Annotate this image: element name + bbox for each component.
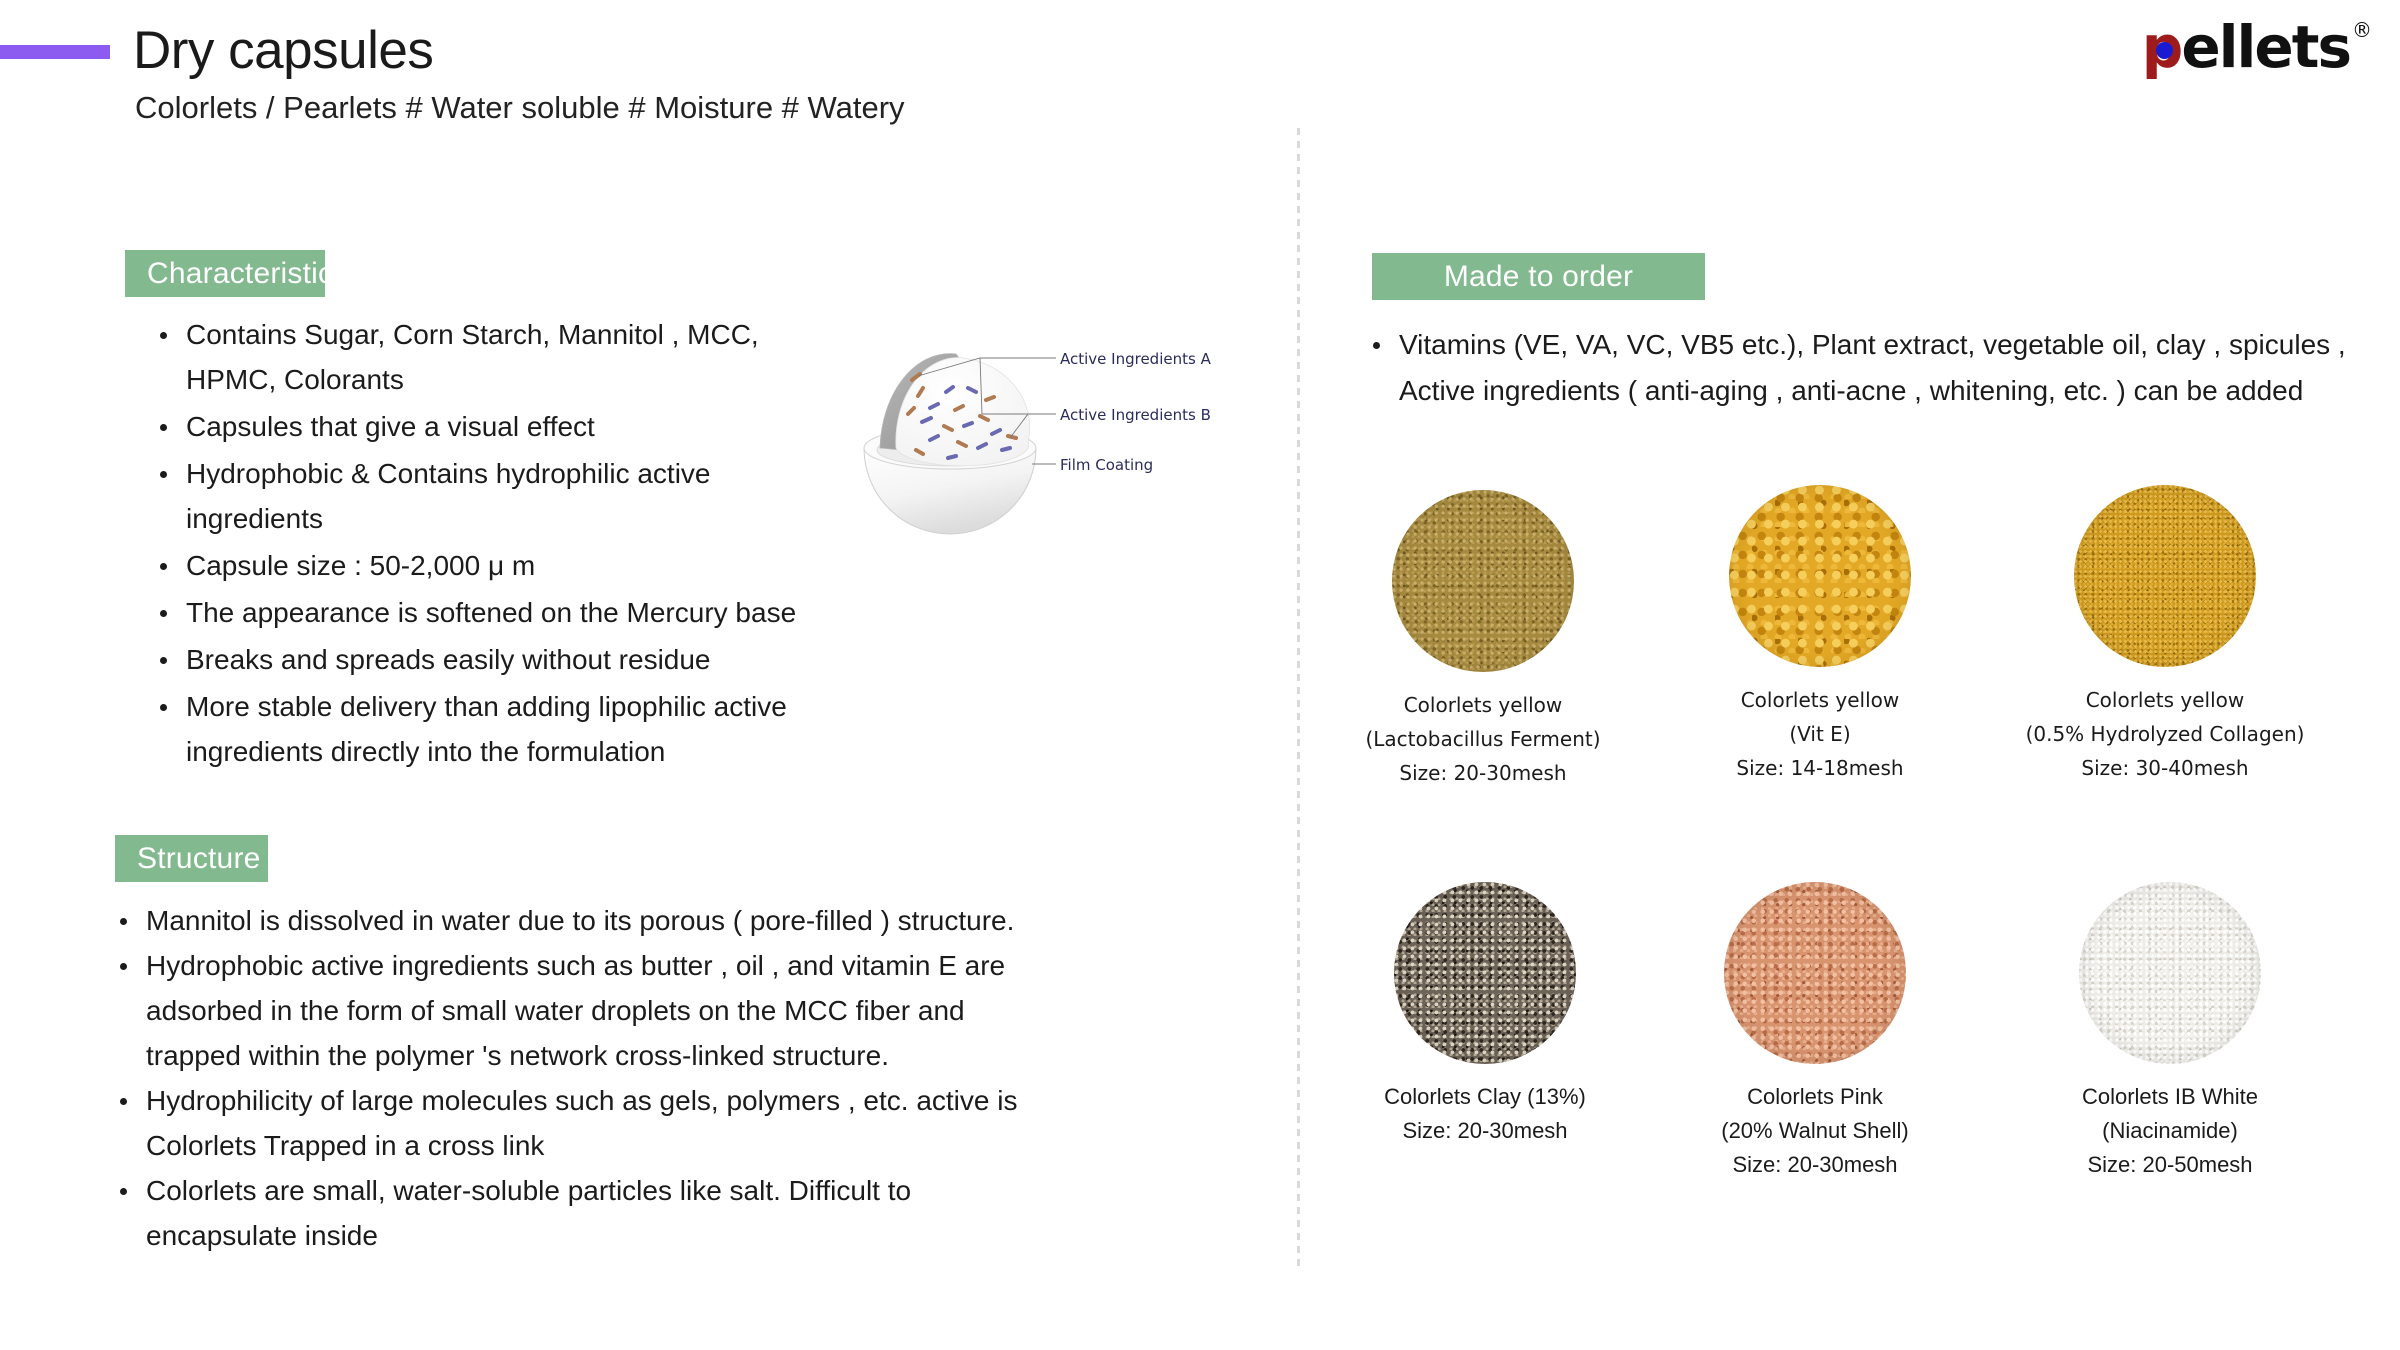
diagram-label-active-a: Active Ingredients A — [1060, 350, 1211, 368]
pellets-logo: pellets ® — [2142, 18, 2372, 80]
sample-card: Colorlets Clay (13%) Size: 20-30mesh — [1330, 882, 1640, 1148]
page-title: Dry capsules — [133, 20, 433, 81]
sample-image — [1724, 882, 1906, 1064]
sample-card: Colorlets IB White (Niacinamide) Size: 2… — [1925, 882, 2400, 1182]
sample-detail: (20% Walnut Shell) — [1660, 1114, 1970, 1148]
sample-name: Colorlets Pink — [1660, 1080, 1970, 1114]
characteristic-list: Contains Sugar, Corn Starch, Mannitol , … — [150, 312, 850, 776]
sample-name: Colorlets IB White — [1925, 1080, 2400, 1114]
column-divider — [1297, 128, 1300, 1268]
sample-image — [1394, 882, 1576, 1064]
sample-detail: (0.5% Hydrolyzed Collagen) — [1995, 717, 2335, 751]
sample-size: Size: 20-30mesh — [1330, 1114, 1640, 1148]
diagram-label-film-coating: Film Coating — [1060, 456, 1153, 474]
list-item: Colorlets are small, water-soluble parti… — [110, 1168, 1060, 1258]
badge-made-to-order: Made to order — [1372, 253, 1705, 300]
structure-list: Mannitol is dissolved in water due to it… — [110, 898, 1060, 1258]
sample-card: Colorlets yellow (Vit E) Size: 14-18mesh — [1665, 485, 1975, 785]
list-item: More stable delivery than adding lipophi… — [150, 684, 850, 774]
sample-size: Size: 14-18mesh — [1665, 751, 1975, 785]
badge-structure: Structure — [115, 835, 268, 882]
sample-size: Size: 20-30mesh — [1660, 1148, 1970, 1182]
sample-caption: Colorlets yellow (Vit E) Size: 14-18mesh — [1665, 683, 1975, 785]
page-subtitle: Colorlets / Pearlets # Water soluble # M… — [135, 90, 905, 126]
capsule-diagram: Active Ingredients A Active Ingredients … — [860, 330, 1240, 590]
list-item: Contains Sugar, Corn Starch, Mannitol , … — [150, 312, 850, 402]
sample-caption: Colorlets Clay (13%) Size: 20-30mesh — [1330, 1080, 1640, 1148]
sample-size: Size: 20-50mesh — [1925, 1148, 2400, 1182]
list-item: Mannitol is dissolved in water due to it… — [110, 898, 1060, 943]
slide-root: Dry capsules Colorlets / Pearlets # Wate… — [0, 0, 2400, 1350]
list-item: Hydrophobic & Contains hydrophilic activ… — [150, 451, 850, 541]
list-item: Breaks and spreads easily without residu… — [150, 637, 850, 682]
sample-image — [2074, 485, 2256, 667]
sample-detail: (Niacinamide) — [1925, 1114, 2400, 1148]
sample-size: Size: 20-30mesh — [1313, 756, 1653, 790]
sample-caption: Colorlets Pink (20% Walnut Shell) Size: … — [1660, 1080, 1970, 1182]
sample-name: Colorlets yellow — [1995, 683, 2335, 717]
sample-card: Colorlets yellow (0.5% Hydrolyzed Collag… — [1995, 485, 2335, 785]
list-item: Vitamins (VE, VA, VC, VB5 etc.), Plant e… — [1363, 322, 2353, 414]
diagram-label-active-b: Active Ingredients B — [1060, 406, 1211, 424]
sample-card: Colorlets yellow (Lactobacillus Ferment)… — [1313, 490, 1653, 790]
made-to-order-list: Vitamins (VE, VA, VC, VB5 etc.), Plant e… — [1363, 322, 2353, 414]
sample-size: Size: 30-40mesh — [1995, 751, 2335, 785]
badge-characteristic: Characteristic — [125, 250, 325, 297]
sample-name: Colorlets Clay (13%) — [1330, 1080, 1640, 1114]
registered-trademark-icon: ® — [2352, 20, 2372, 40]
sample-name: Colorlets yellow — [1313, 688, 1653, 722]
sample-caption: Colorlets IB White (Niacinamide) Size: 2… — [1925, 1080, 2400, 1182]
logo-wordmark: pellets — [2142, 18, 2350, 76]
logo-dot-icon — [2156, 42, 2173, 59]
sample-detail: (Lactobacillus Ferment) — [1313, 722, 1653, 756]
list-item: Capsules that give a visual effect — [150, 404, 850, 449]
sample-card: Colorlets Pink (20% Walnut Shell) Size: … — [1660, 882, 1970, 1182]
list-item: The appearance is softened on the Mercur… — [150, 590, 850, 635]
sample-image — [1729, 485, 1911, 667]
logo-letters-rest: ellets — [2181, 13, 2350, 81]
list-item: Hydrophilicity of large molecules such a… — [110, 1078, 1060, 1168]
sample-image — [2079, 882, 2261, 1064]
list-item: Capsule size : 50-2,000 μ m — [150, 543, 850, 588]
accent-bar — [0, 45, 110, 59]
sample-caption: Colorlets yellow (Lactobacillus Ferment)… — [1313, 688, 1653, 790]
sample-image — [1392, 490, 1574, 672]
sample-caption: Colorlets yellow (0.5% Hydrolyzed Collag… — [1995, 683, 2335, 785]
sample-detail: (Vit E) — [1665, 717, 1975, 751]
sample-name: Colorlets yellow — [1665, 683, 1975, 717]
capsule-diagram-svg — [860, 330, 1240, 590]
list-item: Hydrophobic active ingredients such as b… — [110, 943, 1060, 1078]
